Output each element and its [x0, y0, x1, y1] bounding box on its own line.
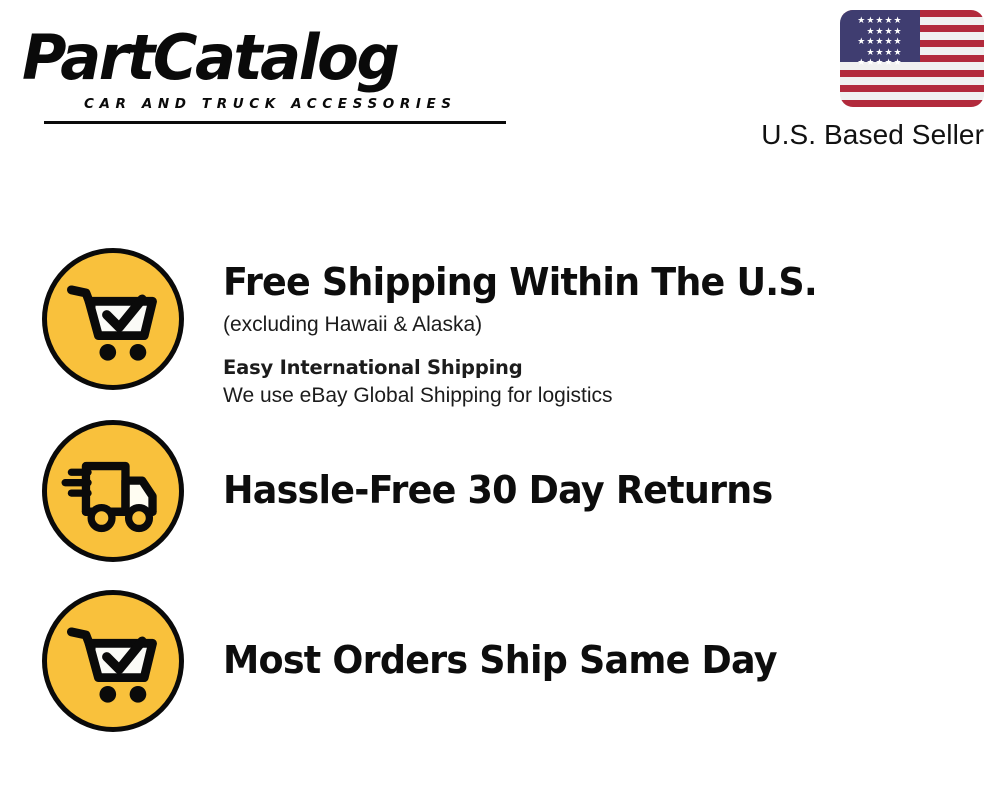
- delivery-truck-icon: [42, 420, 184, 562]
- feature-subtext-logistics: We use eBay Global Shipping for logistic…: [223, 381, 612, 411]
- seller-label: U.S. Based Seller: [712, 119, 984, 151]
- feature-row-same-day-ship: Most Orders Ship Same Day: [0, 590, 1000, 762]
- brand-wordmark: PartCatalog: [22, 22, 397, 94]
- page-header: PartCatalog CAR AND TRUCK ACCESSORIES: [0, 0, 1000, 170]
- feature-subtext-exclusions: (excluding Hawaii & Alaska): [223, 310, 482, 340]
- feature-heading: Hassle-Free 30 Day Returns: [223, 468, 772, 513]
- brand-logo[interactable]: PartCatalog CAR AND TRUCK ACCESSORIES: [22, 22, 492, 114]
- feature-heading: Free Shipping Within The U.S.: [223, 260, 817, 305]
- feature-row-free-shipping: Free Shipping Within The U.S. (excluding…: [0, 248, 1000, 420]
- feature-row-returns: Hassle-Free 30 Day Returns: [0, 420, 1000, 592]
- us-based-seller-badge: ★★★★★ ★★★★ ★★★★★ ★★★★ ★★★★★ U.S. Based S…: [712, 10, 984, 151]
- brand-underline-rule: [44, 121, 506, 124]
- flag-stars: ★★★★★ ★★★★ ★★★★★ ★★★★ ★★★★★: [840, 10, 920, 62]
- us-flag-icon: ★★★★★ ★★★★ ★★★★★ ★★★★ ★★★★★: [840, 10, 984, 107]
- shopping-cart-check-icon: [42, 248, 184, 390]
- feature-subheading-international: Easy International Shipping: [223, 353, 523, 382]
- feature-heading: Most Orders Ship Same Day: [223, 638, 777, 683]
- shopping-cart-check-icon: [42, 590, 184, 732]
- brand-tagline: CAR AND TRUCK ACCESSORIES: [84, 96, 457, 112]
